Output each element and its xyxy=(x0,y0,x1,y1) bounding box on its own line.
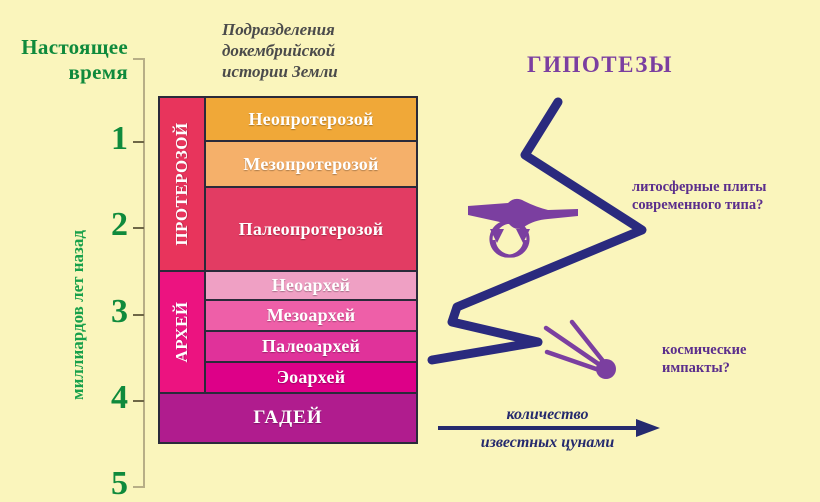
axis-tick-1 xyxy=(133,141,144,143)
era-row-eoarchean[interactable]: Эоархей xyxy=(206,363,416,394)
axis-present-time-label: Настоящее время xyxy=(2,35,128,85)
eon-bar-proterozoic-label: ПРОТЕРОЗОЙ xyxy=(172,122,192,245)
note-cosmic-impacts-line2: импакты? xyxy=(662,359,812,377)
axis-label-4: 4 xyxy=(88,381,128,415)
axis-tick-4 xyxy=(133,400,144,402)
note-cosmic-impacts: космические импакты? xyxy=(662,341,812,377)
era-label-hadean: ГАДЕЙ xyxy=(253,407,322,429)
era-label-mesoproterozoic: Мезопротерозой xyxy=(243,154,378,175)
eon-bar-archean[interactable]: АРХЕЙ xyxy=(160,272,204,394)
tsunami-axis-caption-line1: количество xyxy=(440,405,655,425)
axis-spine xyxy=(143,58,145,488)
meteor-impact-icon xyxy=(546,322,616,379)
axis-present-time-line2: время xyxy=(2,60,128,85)
era-row-hadean[interactable]: ГАДЕЙ xyxy=(160,394,416,442)
axis-label-5: 5 xyxy=(88,467,128,501)
era-row-neoarchean[interactable]: Неоархей xyxy=(206,272,416,301)
eon-bar-archean-label: АРХЕЙ xyxy=(172,301,192,362)
eon-bar-proterozoic[interactable]: ПРОТЕРОЗОЙ xyxy=(160,98,204,272)
axis-tick-2 xyxy=(133,227,144,229)
column-heading: Подразделения докембрийской истории Земл… xyxy=(222,19,422,82)
axis-present-time-line1: Настоящее xyxy=(2,35,128,60)
era-label-neoarchean: Неоархей xyxy=(272,275,351,296)
era-row-mesoarchean[interactable]: Мезоархей xyxy=(206,301,416,332)
axis-tick-3 xyxy=(133,314,144,316)
era-label-paleoarchean: Палеоархей xyxy=(262,336,360,357)
note-lithospheric-plates-line1: литосферные плиты xyxy=(632,178,817,196)
era-label-paleoproterozoic: Палеопротерозой xyxy=(239,219,384,240)
note-lithospheric-plates-line2: современного типа? xyxy=(632,196,817,214)
tsunami-axis-caption-line2: известных цунами xyxy=(440,433,655,453)
era-row-mesoproterozoic[interactable]: Мезопротерозой xyxy=(206,142,416,188)
note-lithospheric-plates: литосферные плиты современного типа? xyxy=(632,178,817,214)
tsunami-axis-caption: количество известных цунами xyxy=(440,405,655,453)
convection-arrowheads xyxy=(490,229,530,243)
era-label-mesoarchean: Мезоархей xyxy=(267,305,356,326)
precambrian-column: ПРОТЕРОЗОЙ АРХЕЙ Неопротерозой Мезопроте… xyxy=(158,96,418,444)
column-heading-line3: истории Земли xyxy=(222,61,422,82)
diagram-canvas: Настоящее время миллиардов лет назад 1 2… xyxy=(0,0,820,500)
axis-cap-top xyxy=(133,58,144,60)
axis-cap-bottom xyxy=(133,486,144,488)
axis-label-2: 2 xyxy=(88,208,128,242)
era-row-paleoproterozoic[interactable]: Палеопротерозой xyxy=(206,188,416,272)
axis-unit-label: миллиардов лет назад xyxy=(68,230,88,400)
column-heading-line2: докембрийской xyxy=(222,40,422,61)
hypotheses-title: ГИПОТЕЗЫ xyxy=(527,52,673,78)
era-label-eoarchean: Эоархей xyxy=(277,367,346,388)
column-heading-line1: Подразделения xyxy=(222,19,422,40)
note-cosmic-impacts-line1: космические xyxy=(662,341,812,359)
era-row-neoproterozoic[interactable]: Неопротерозой xyxy=(206,98,416,142)
era-label-neoproterozoic: Неопротерозой xyxy=(248,109,373,130)
axis-label-3: 3 xyxy=(88,295,128,329)
axis-label-1: 1 xyxy=(88,122,128,156)
convection-arrows-icon xyxy=(491,222,528,256)
subduction-plate-icon xyxy=(468,199,578,229)
tsunami-frequency-curve xyxy=(432,102,642,360)
era-row-paleoarchean[interactable]: Палеоархей xyxy=(206,332,416,363)
